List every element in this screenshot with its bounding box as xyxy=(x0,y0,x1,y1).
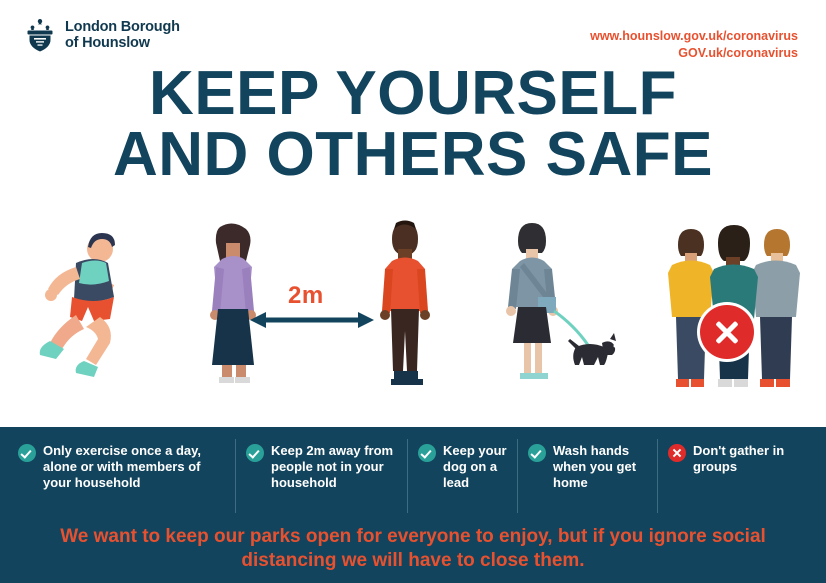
dog-on-lead-icon xyxy=(568,333,617,365)
list-item-label: Wash hands when you get home xyxy=(553,443,647,491)
hounslow-crest-icon xyxy=(22,18,58,52)
list-item: Wash hands when you get home xyxy=(518,439,658,513)
check-circle-icon xyxy=(246,444,264,462)
list-item: Don't gather in groups xyxy=(658,439,808,513)
list-item: Keep your dog on a lead xyxy=(408,439,518,513)
red-cross-badge-icon xyxy=(700,305,754,359)
headline-line-2: AND OTHERS SAFE xyxy=(0,125,826,186)
distance-label: 2m xyxy=(288,282,324,310)
cross-circle-icon xyxy=(668,444,686,462)
headline-line-1: KEEP YOURSELF xyxy=(149,59,677,128)
dog-walker-icon xyxy=(498,219,628,397)
council-logo: London Borough of Hounslow xyxy=(22,18,180,52)
illustration-strip: 2m xyxy=(0,215,826,427)
check-circle-icon xyxy=(418,444,436,462)
poster-root: London Borough of Hounslow www.hounslow.… xyxy=(0,0,826,583)
advice-list: Only exercise once a day, alone or with … xyxy=(8,439,818,513)
council-logo-text: London Borough of Hounslow xyxy=(65,19,180,51)
logo-line-1: London Borough xyxy=(65,19,180,35)
running-person-icon xyxy=(14,223,164,383)
list-item: Keep 2m away from people not in your hou… xyxy=(236,439,408,513)
list-item: Only exercise once a day, alone or with … xyxy=(8,439,236,513)
standing-man-icon xyxy=(370,219,440,391)
website-links: www.hounslow.gov.uk/coronavirus GOV.uk/c… xyxy=(590,28,798,62)
standing-woman-icon xyxy=(198,221,268,391)
check-circle-icon xyxy=(528,444,546,462)
list-item-label: Don't gather in groups xyxy=(693,443,798,475)
advice-panel: Only exercise once a day, alone or with … xyxy=(0,427,826,583)
list-item-label: Only exercise once a day, alone or with … xyxy=(43,443,225,491)
closing-message: We want to keep our parks open for every… xyxy=(0,525,826,574)
logo-line-2: of Hounslow xyxy=(65,35,150,51)
double-headed-arrow-icon xyxy=(250,311,374,329)
link-hounslow[interactable]: www.hounslow.gov.uk/coronavirus xyxy=(590,28,798,45)
header-band: London Borough of Hounslow www.hounslow.… xyxy=(0,0,826,66)
check-circle-icon xyxy=(18,444,36,462)
list-item-label: Keep 2m away from people not in your hou… xyxy=(271,443,397,491)
list-item-label: Keep your dog on a lead xyxy=(443,443,507,491)
page-title: KEEP YOURSELF AND OTHERS SAFE xyxy=(0,64,826,186)
